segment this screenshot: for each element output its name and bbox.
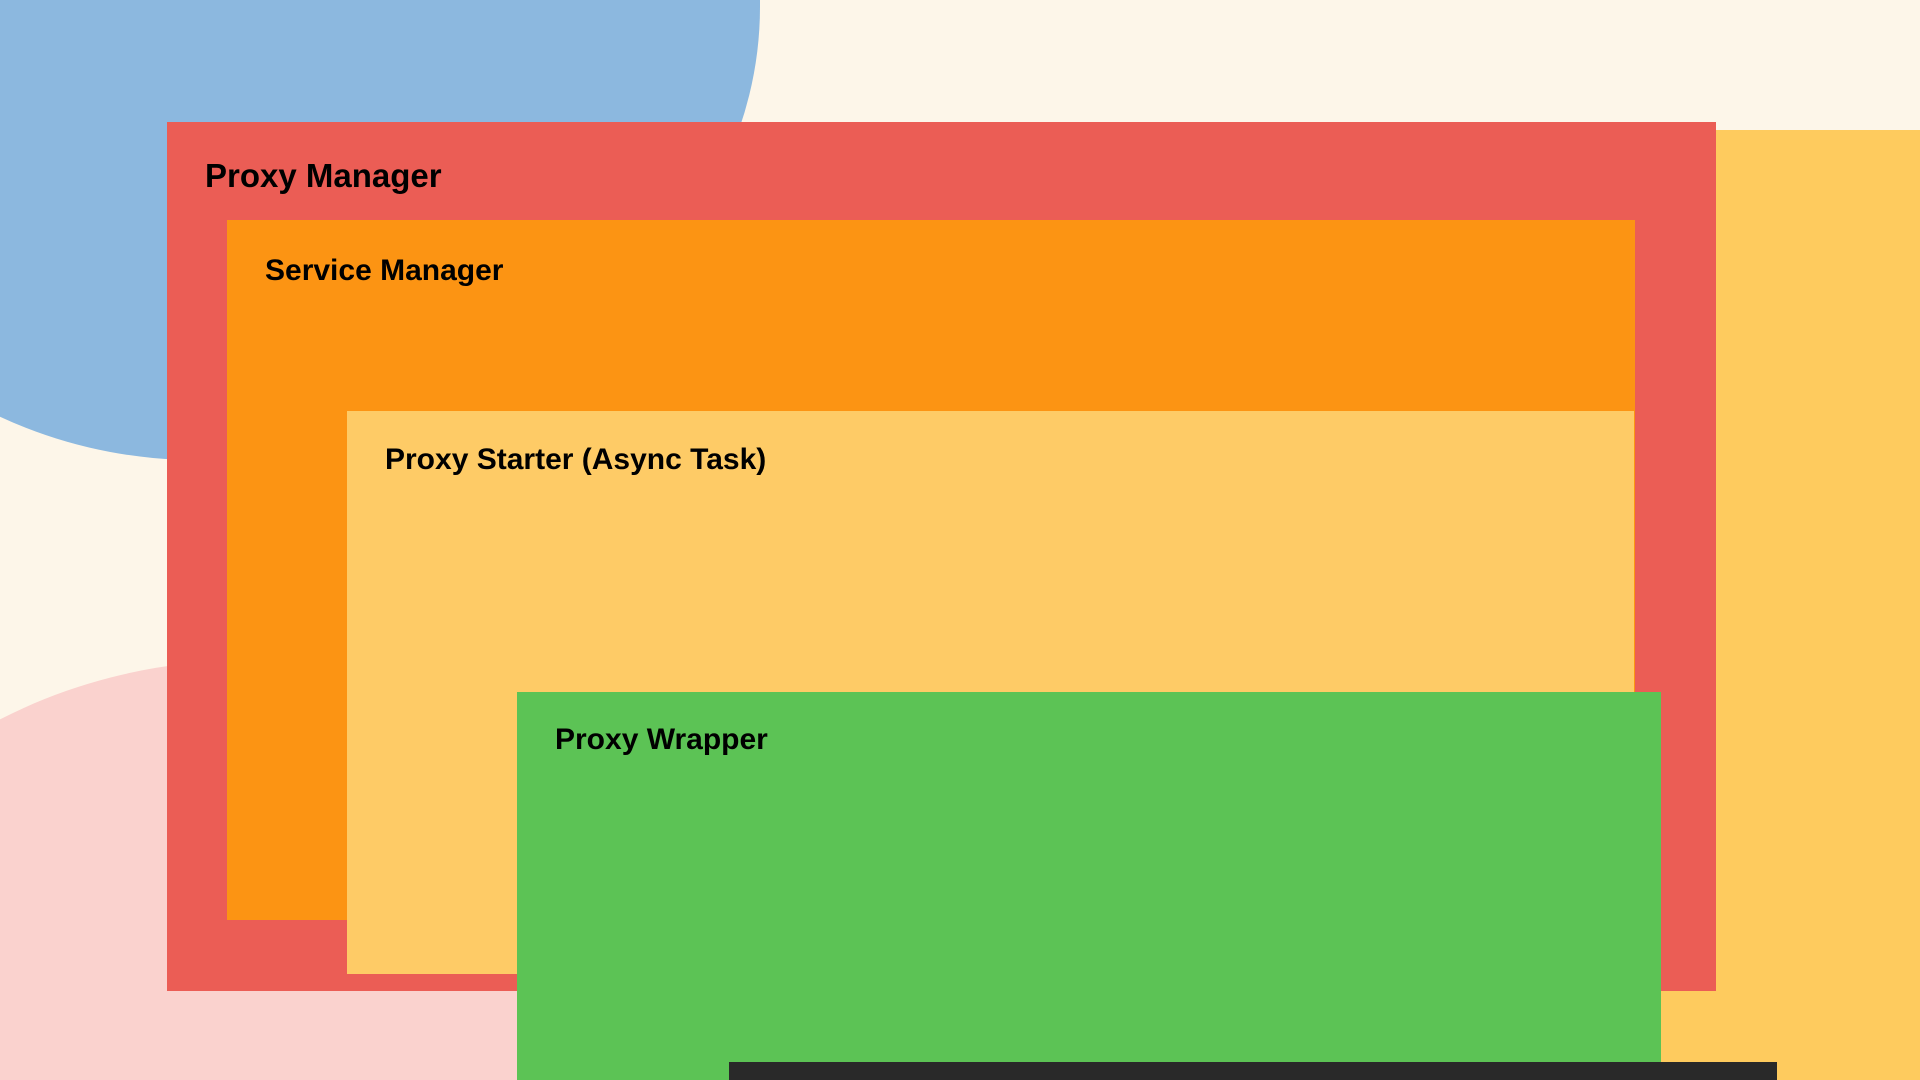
layer-service-manager: Service Manager Proxy Starter (Async Tas… [227,220,1635,920]
layer-proxy-manager: Proxy Manager Service Manager Proxy Star… [167,122,1716,991]
layer-proxy-wrapper: Proxy Wrapper ./proxy (Process) [517,692,1661,1080]
proxy-process-box: ./proxy (Process) boost::ios boost::sock… [729,1062,1777,1080]
layer-proxy-manager-label: Proxy Manager [205,159,442,192]
layer-proxy-starter-label: Proxy Starter (Async Task) [385,445,766,475]
layer-proxy-wrapper-label: Proxy Wrapper [555,725,768,755]
layer-proxy-starter: Proxy Starter (Async Task) Proxy Wrapper [347,411,1634,974]
architecture-diagram: Proxy Manager Service Manager Proxy Star… [167,122,1716,991]
layer-service-manager-label: Service Manager [265,256,503,286]
